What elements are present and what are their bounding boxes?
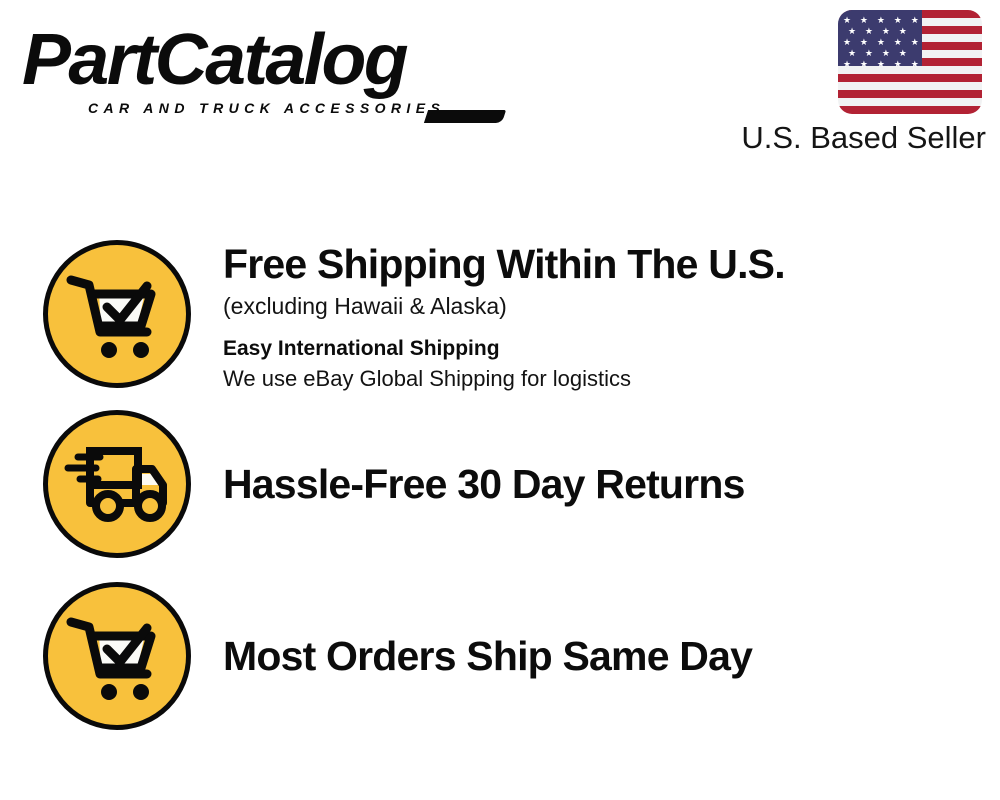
brand-swoosh-decoration — [424, 110, 506, 123]
us-based-seller-badge: ★ ★ ★ ★ ★ ★ ★ ★ ★ ★ ★ ★ ★ ★ ★ ★ ★ ★ ★ ★ … — [716, 8, 986, 158]
us-based-seller-label: U.S. Based Seller — [716, 120, 986, 156]
feature-subtitle: (excluding Hawaii & Alaska) — [223, 290, 1000, 322]
feature-title: Free Shipping Within The U.S. — [223, 240, 1000, 288]
feature-title: Most Orders Ship Same Day — [223, 632, 752, 680]
brand-wordmark: PartCatalog — [22, 24, 406, 96]
feature-subtitle-note: We use eBay Global Shipping for logistic… — [223, 364, 1000, 394]
brand-logo: PartCatalog CAR AND TRUCK ACCESSORIES — [22, 24, 492, 116]
delivery-truck-icon — [43, 410, 191, 558]
us-flag-icon: ★ ★ ★ ★ ★ ★ ★ ★ ★ ★ ★ ★ ★ ★ ★ ★ ★ ★ ★ ★ … — [838, 10, 982, 114]
shopping-cart-check-icon — [43, 240, 191, 388]
feature-row-same-day: Most Orders Ship Same Day — [0, 582, 1000, 730]
feature-title: Hassle-Free 30 Day Returns — [223, 460, 745, 508]
shopping-cart-check-icon — [43, 582, 191, 730]
feature-row-free-shipping: Free Shipping Within The U.S. (excluding… — [0, 240, 1000, 394]
flag-stars: ★ ★ ★ ★ ★ ★ ★ ★ ★ ★ ★ ★ ★ ★ ★ ★ ★ ★ ★ ★ … — [838, 10, 922, 66]
feature-text-same-day: Most Orders Ship Same Day — [223, 582, 1000, 730]
feature-row-returns: Hassle-Free 30 Day Returns — [0, 410, 1000, 558]
feature-text-returns: Hassle-Free 30 Day Returns — [223, 410, 1000, 558]
feature-subtitle-strong: Easy International Shipping — [223, 334, 1000, 364]
feature-text-free-shipping: Free Shipping Within The U.S. (excluding… — [223, 240, 1000, 394]
brand-tagline: CAR AND TRUCK ACCESSORIES — [88, 100, 445, 116]
promo-banner: PartCatalog CAR AND TRUCK ACCESSORIES ★ … — [0, 0, 1000, 800]
